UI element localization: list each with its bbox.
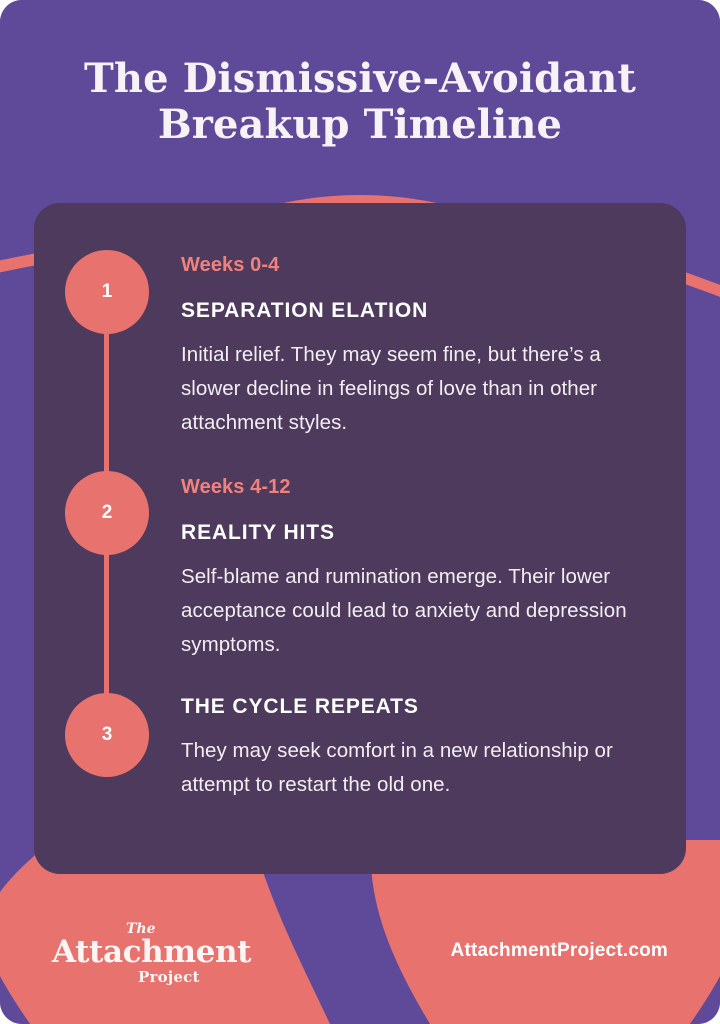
logo-attachment-text: Attachment [52, 935, 251, 969]
timeline-step-2-body: Self-blame and rumination emerge. Their … [181, 560, 659, 662]
timeline-step-1-heading: SEPARATION ELATION [181, 298, 659, 324]
timeline-step-3: THE CYCLE REPEATS They may seek comfort … [181, 694, 659, 802]
timeline-marker-2: 2 [65, 471, 149, 555]
timeline-marker-3-number: 3 [102, 724, 113, 746]
timeline-marker-1-number: 1 [102, 281, 113, 303]
timeline-marker-3: 3 [65, 693, 149, 777]
timeline-marker-1: 1 [65, 250, 149, 334]
website-url: AttachmentProject.com [451, 940, 668, 962]
timeline-step-3-heading: THE CYCLE REPEATS [181, 694, 659, 720]
timeline-step-1: Weeks 0-4 SEPARATION ELATION Initial rel… [181, 252, 659, 440]
timeline-step-2-weeks: Weeks 4-12 [181, 474, 659, 500]
page-title: The Dismissive-Avoidant Breakup Timeline [0, 56, 720, 148]
timeline-step-1-body: Initial relief. They may seem fine, but … [181, 338, 659, 440]
timeline-step-3-body: They may seek comfort in a new relations… [181, 734, 659, 802]
title-line-1: The Dismissive-Avoidant [84, 55, 636, 102]
timeline-step-1-weeks: Weeks 0-4 [181, 252, 659, 278]
logo-project-text: Project [138, 969, 200, 985]
title-line-2: Breakup Timeline [0, 102, 720, 148]
attachment-project-logo: The Attachment Project [52, 922, 242, 990]
timeline-marker-2-number: 2 [102, 502, 113, 524]
timeline-step-2: Weeks 4-12 REALITY HITS Self-blame and r… [181, 474, 659, 662]
infographic-poster: The Dismissive-Avoidant Breakup Timeline… [0, 0, 720, 1024]
timeline-step-2-heading: REALITY HITS [181, 520, 659, 546]
